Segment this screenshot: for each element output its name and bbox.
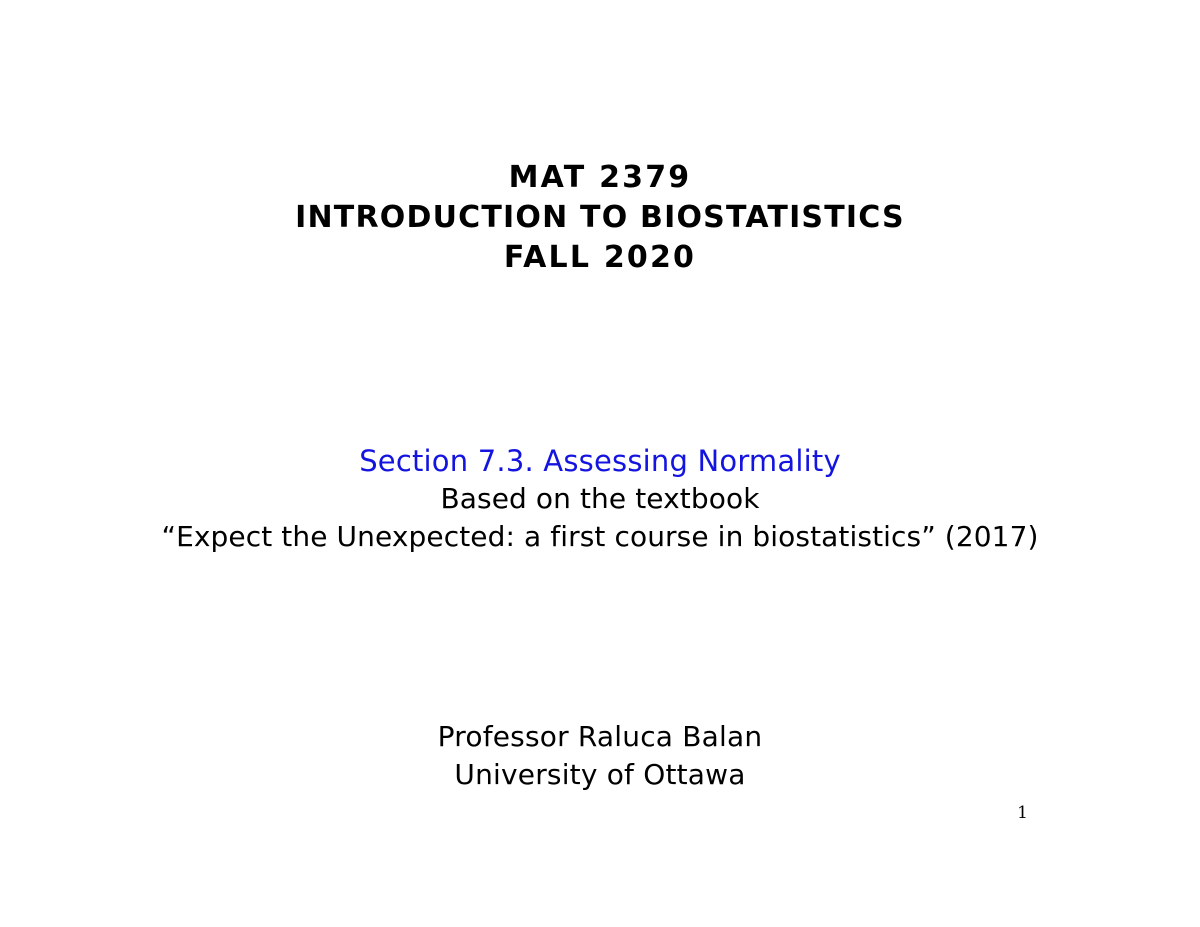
author-name: Professor Raluca Balan bbox=[0, 718, 1200, 756]
section-heading: Section 7.3. Assessing Normality bbox=[0, 442, 1200, 480]
course-code: MAT 2379 bbox=[0, 158, 1200, 198]
slide-canvas: MAT 2379 INTRODUCTION TO BIOSTATISTICS F… bbox=[0, 0, 1200, 927]
course-term: FALL 2020 bbox=[0, 238, 1200, 278]
course-title-block: MAT 2379 INTRODUCTION TO BIOSTATISTICS F… bbox=[0, 158, 1200, 278]
section-block: Section 7.3. Assessing Normality Based o… bbox=[0, 442, 1200, 556]
course-subject: INTRODUCTION TO BIOSTATISTICS bbox=[0, 198, 1200, 238]
source-title: “Expect the Unexpected: a first course i… bbox=[0, 518, 1200, 556]
author-block: Professor Raluca Balan University of Ott… bbox=[0, 718, 1200, 794]
source-prefix: Based on the textbook bbox=[0, 480, 1200, 518]
page-number: 1 bbox=[1017, 803, 1028, 823]
author-affiliation: University of Ottawa bbox=[0, 756, 1200, 794]
